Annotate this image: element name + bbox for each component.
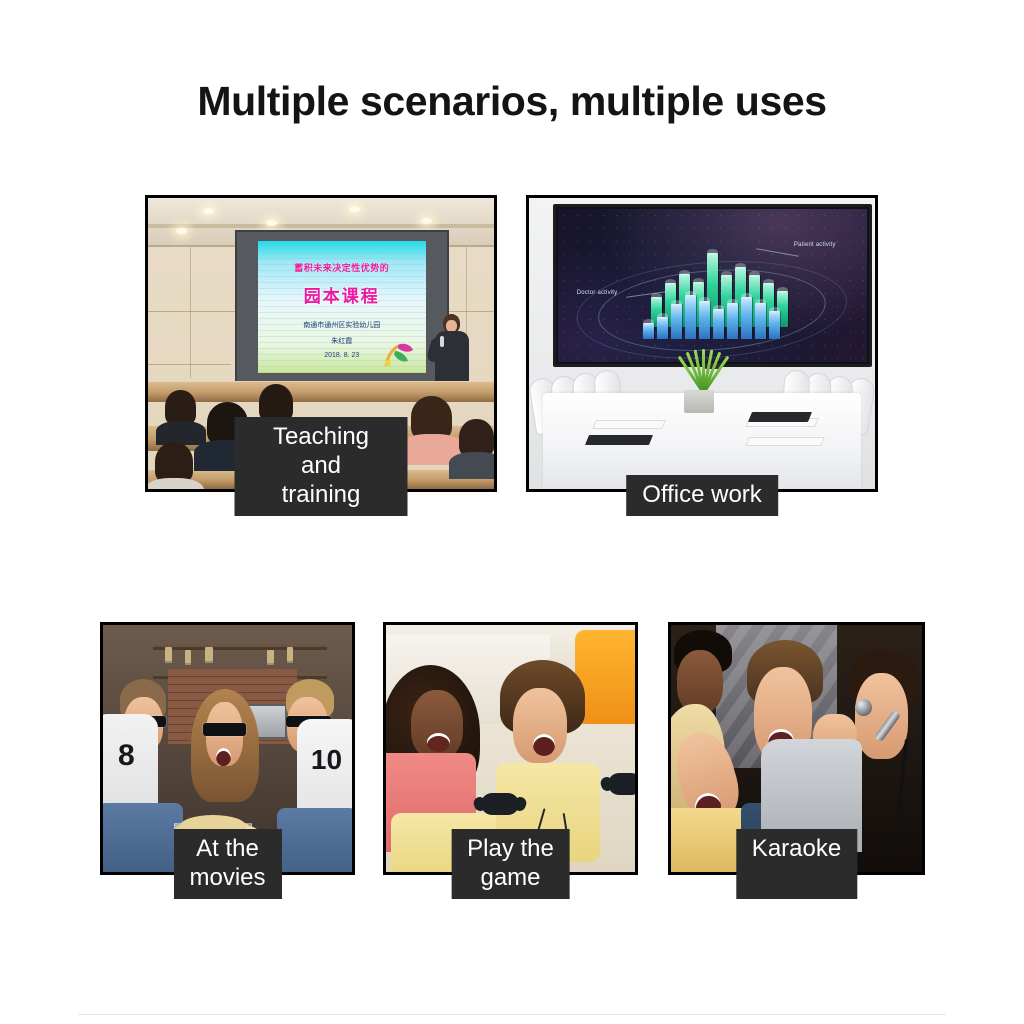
slide-line-3: 南通市通州区实验幼儿园 — [258, 320, 426, 330]
shelf-jar — [205, 647, 213, 663]
bar-doctor — [671, 304, 682, 339]
paper-document — [745, 437, 825, 446]
scenario-card-movies[interactable]: 8 — [100, 622, 355, 875]
potted-plant — [676, 349, 728, 393]
wall-mounted-tv: Patient activity Doctor activity — [553, 204, 871, 367]
audience-head — [165, 390, 196, 425]
tablet-device — [585, 435, 653, 445]
scenario-card-teaching[interactable]: 蓄积未来决定性优势的 园本课程 南通市通州区实验幼儿园 朱红霞 2018. 8.… — [145, 195, 497, 492]
jersey-number: 8 — [118, 739, 138, 779]
scenario-caption-game: Play the game — [451, 829, 570, 899]
audience-head — [155, 442, 193, 483]
bar-doctor — [657, 317, 668, 339]
audience-shoulders — [156, 421, 206, 445]
tv-screen: Patient activity Doctor activity — [558, 209, 866, 362]
presentation-slide: 蓄积未来决定性优势的 园本课程 南通市通州区实验幼儿园 朱红霞 2018. 8.… — [258, 241, 426, 373]
audience-shoulders — [449, 452, 494, 478]
page-title: Multiple scenarios, multiple uses — [0, 78, 1024, 125]
jeans — [103, 803, 183, 872]
shelf-jar — [267, 650, 274, 665]
jersey-number: 10 — [311, 744, 342, 776]
bar-doctor — [699, 301, 710, 339]
slide-line-2: 园本课程 — [258, 282, 426, 307]
wall-panel-line — [190, 247, 191, 378]
chart-label-patient-activity: Patient activity — [794, 242, 836, 248]
ceiling-light — [266, 220, 277, 226]
open-mouth — [427, 733, 450, 752]
audience-member — [411, 396, 453, 440]
scenario-card-karaoke[interactable]: Karaoke — [668, 622, 925, 875]
projection-screen: 蓄积未来决定性优势的 园本课程 南通市通州区实验幼儿园 朱红霞 2018. 8.… — [235, 230, 450, 384]
bar-doctor — [755, 303, 766, 339]
chart-label-doctor-activity: Doctor activity — [577, 290, 618, 296]
conference-room-scene: Patient activity Doctor activity — [529, 198, 875, 489]
photo-office-work: Patient activity Doctor activity — [529, 198, 875, 489]
bar-chart-3d — [637, 249, 787, 327]
footer-divider — [78, 1014, 946, 1015]
bar-doctor — [643, 323, 654, 339]
ceiling-light — [176, 228, 187, 234]
scenario-caption-teaching: Teaching and training — [235, 417, 408, 516]
plant-pot — [684, 390, 714, 413]
bar-doctor — [713, 309, 724, 339]
bar-doctor — [741, 297, 752, 339]
paper-document — [592, 420, 666, 429]
bar-doctor — [727, 303, 738, 339]
tablet-device — [748, 412, 813, 422]
scenario-card-game[interactable]: Play the game — [383, 622, 638, 875]
bar-doctor — [769, 311, 780, 339]
scenario-caption-movies: At the movies — [173, 829, 281, 899]
jeans — [277, 808, 352, 872]
audience-member — [165, 390, 196, 425]
kindergarten-logo-icon — [382, 339, 416, 369]
audience-head — [459, 419, 494, 457]
scenario-card-office[interactable]: Patient activity Doctor activity — [526, 195, 878, 492]
ceiling-light — [349, 206, 360, 212]
3d-glasses-icon[interactable] — [203, 723, 246, 736]
shelf-jar — [185, 650, 191, 665]
slide-line-1: 蓄积未来决定性优势的 — [258, 261, 426, 274]
microphone-icon — [440, 336, 444, 347]
scenario-caption-karaoke: Karaoke — [736, 829, 857, 899]
audience-member — [459, 419, 494, 457]
game-controller[interactable] — [481, 793, 519, 815]
ceiling-beam — [148, 224, 494, 228]
scenarios-infographic: Multiple scenarios, multiple uses — [0, 0, 1024, 1024]
shelf-jar — [287, 647, 293, 663]
person-middle — [188, 689, 263, 817]
microphone-icon — [855, 699, 872, 716]
bar-doctor — [685, 295, 696, 339]
audience-member — [155, 442, 193, 483]
kitchen-shelf — [153, 645, 327, 650]
scenario-caption-office: Office work — [626, 475, 778, 516]
game-controller[interactable] — [608, 773, 635, 795]
shelf-jar — [165, 647, 172, 663]
audience-head — [411, 396, 453, 440]
open-mouth — [533, 734, 555, 755]
